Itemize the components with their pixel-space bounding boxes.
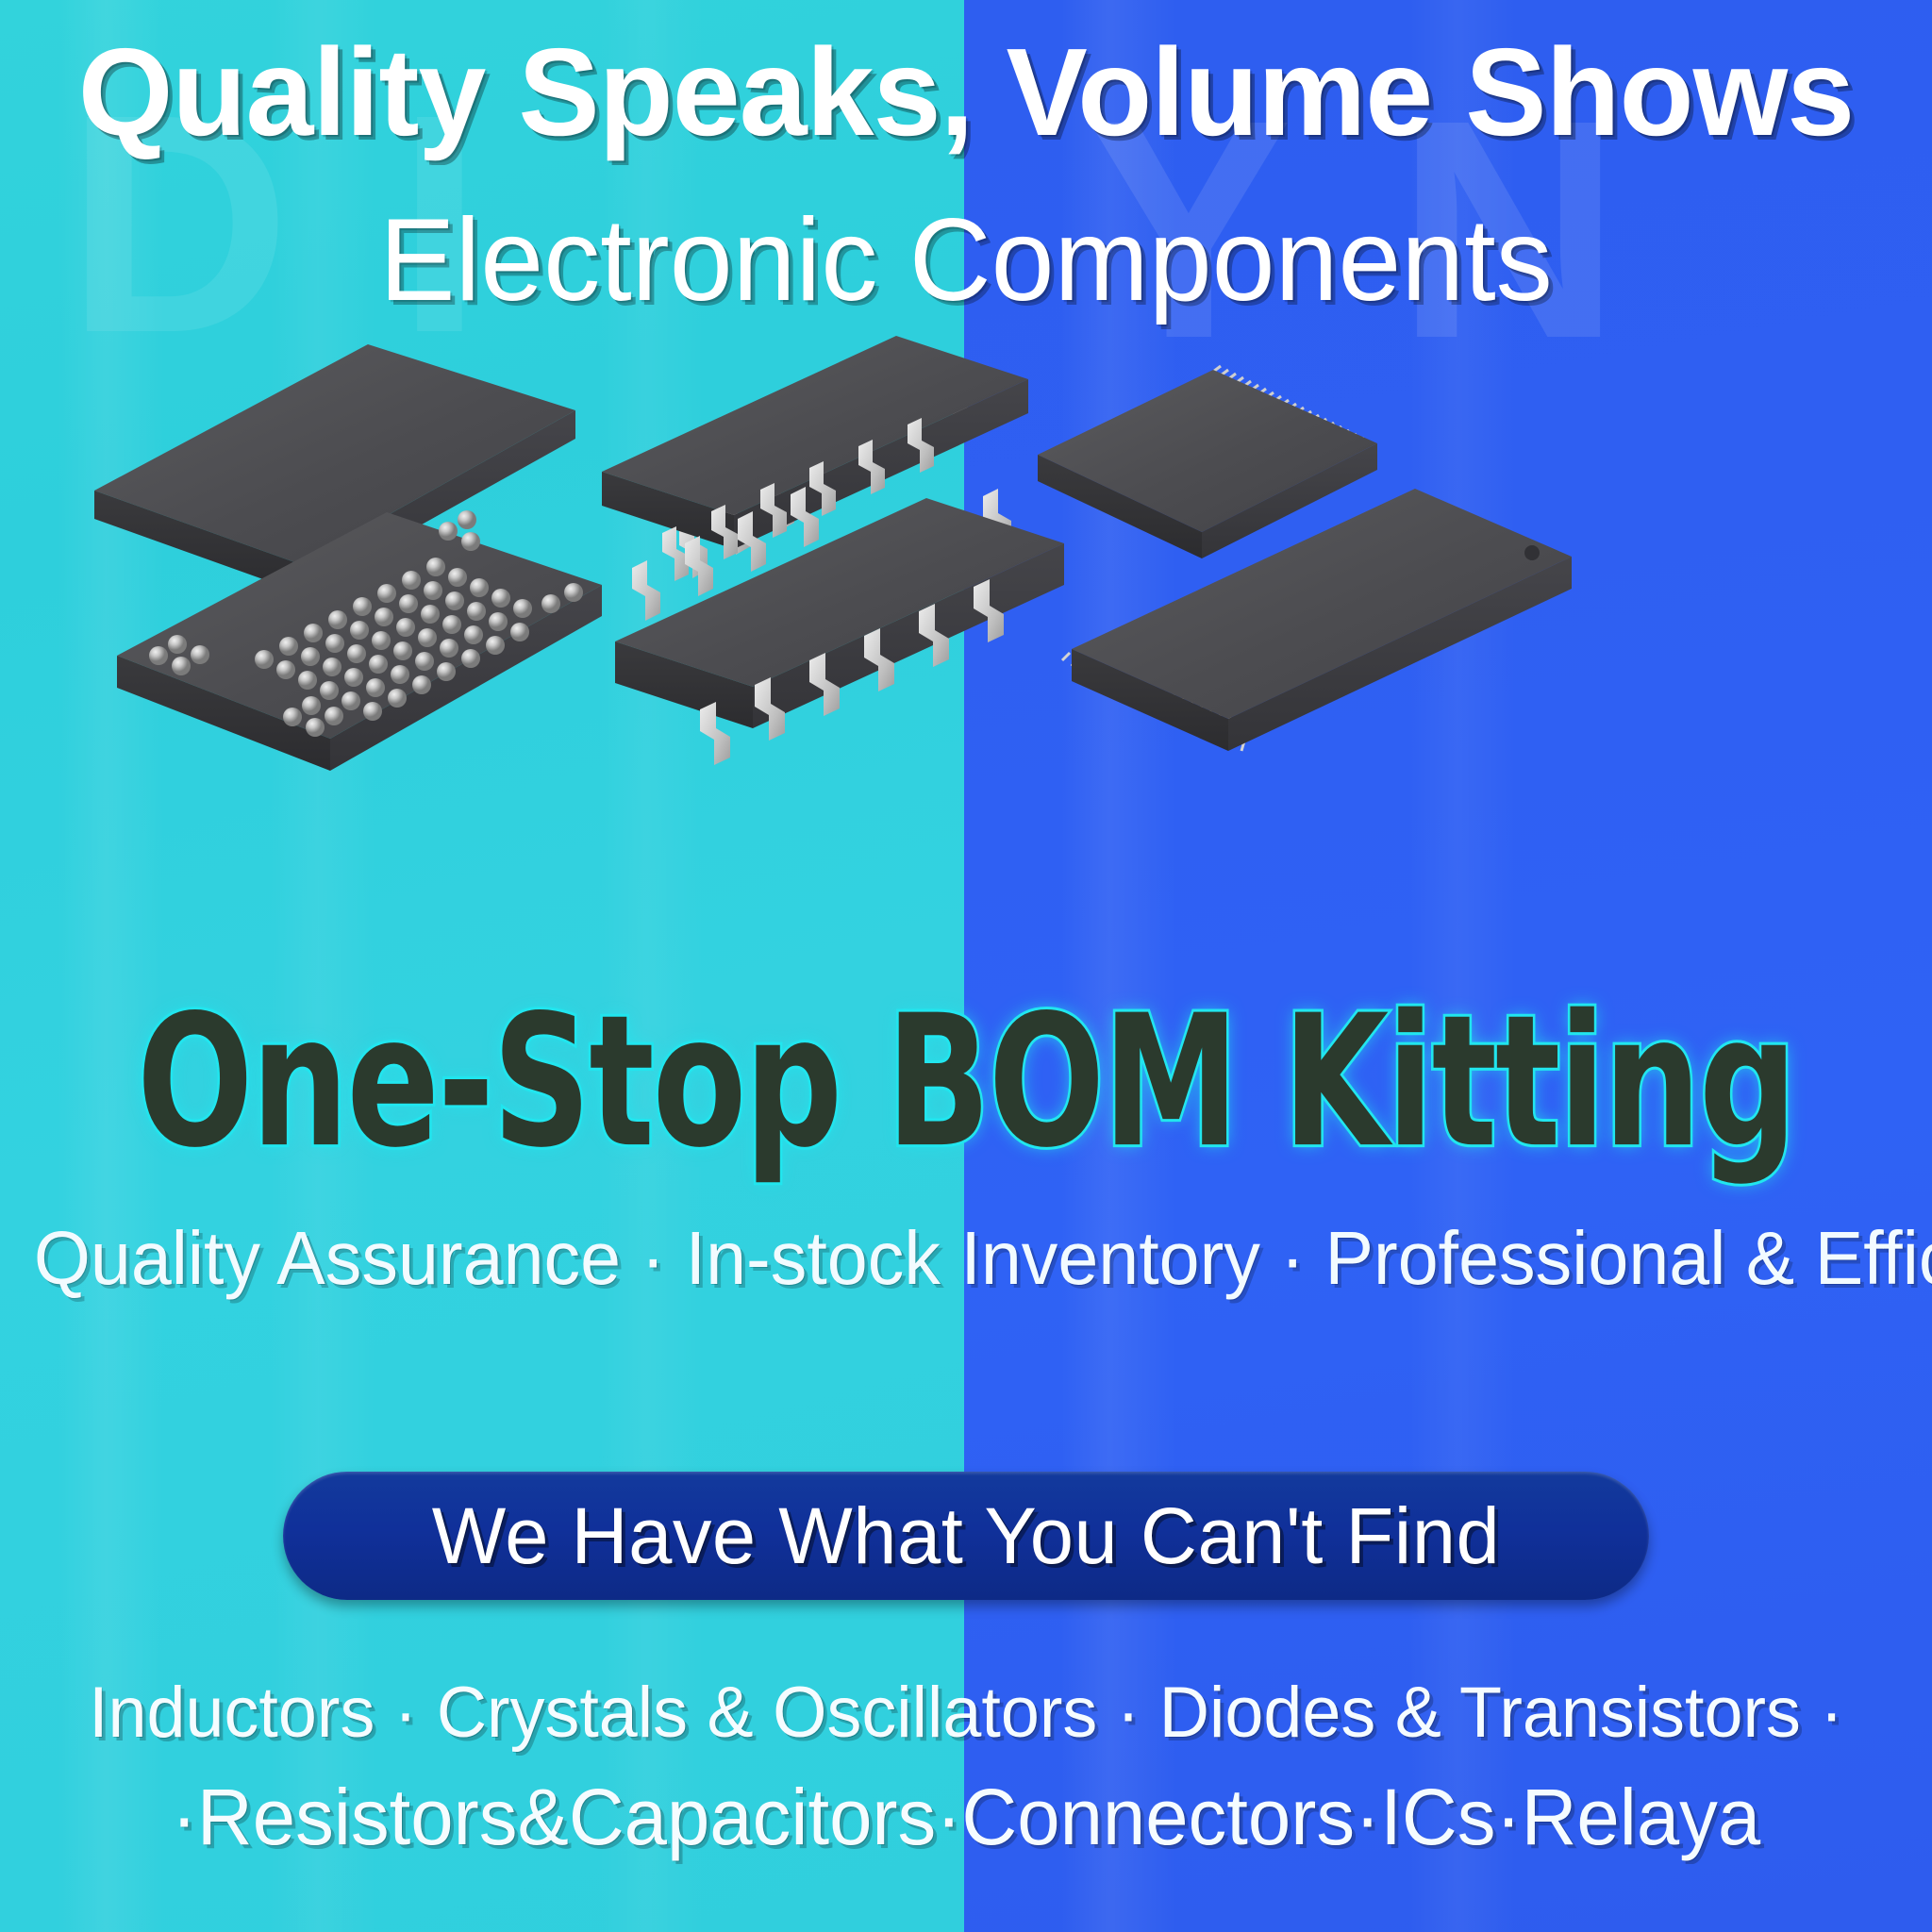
- headline: Quality Speaks, Volume Shows: [19, 21, 1912, 163]
- cta-button[interactable]: We Have What You Can't Find: [283, 1472, 1649, 1600]
- category-line-2: ·Resistors&Capacitors·Connectors·ICs·Rel…: [29, 1772, 1904, 1863]
- tsop-package-lower-icon: [1038, 472, 1641, 792]
- promo-banner: D I Y N Quality Speaks, Volume Shows Ele…: [0, 0, 1932, 1932]
- cta-button-label: We Have What You Can't Find: [432, 1491, 1500, 1582]
- tagline: Quality Assurance · In-stock Inventory ·…: [34, 1215, 1898, 1302]
- feature-heading: One-Stop BOM Kitting: [0, 976, 1932, 1188]
- component-artwork: [0, 321, 1932, 764]
- subheadline: Electronic Components: [29, 193, 1904, 327]
- category-line-1: Inductors · Crystals & Oscillators · Dio…: [29, 1672, 1904, 1754]
